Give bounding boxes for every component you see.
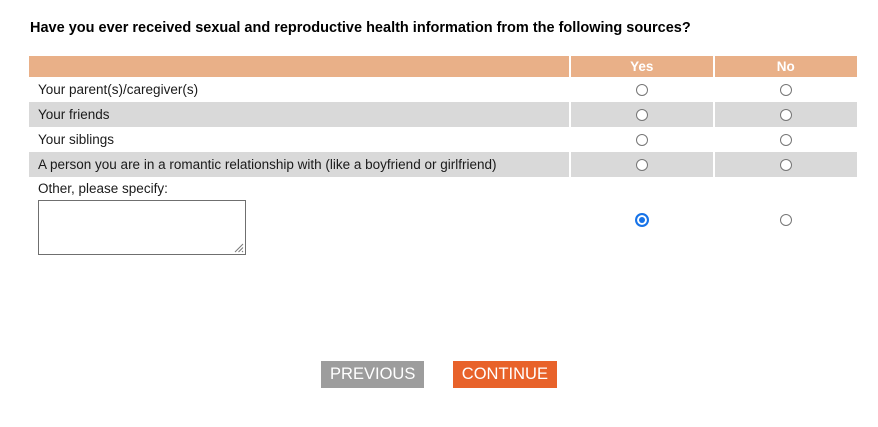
- table-row: Your siblings: [29, 127, 857, 152]
- row-label-cell: A person you are in a romantic relations…: [29, 152, 570, 177]
- radio-cell-yes[interactable]: [570, 127, 714, 152]
- table-row: Your parent(s)/caregiver(s): [29, 77, 857, 102]
- other-specify-input-holder: [38, 200, 246, 255]
- other-specify-input[interactable]: [38, 200, 246, 255]
- table-row: Your friends: [29, 102, 857, 127]
- radio-cell-yes[interactable]: [570, 77, 714, 102]
- continue-button[interactable]: CONTINUE: [453, 361, 557, 388]
- other-specify-label: Other, please specify:: [38, 180, 569, 197]
- previous-button[interactable]: PREVIOUS: [321, 361, 424, 388]
- radio-romantic-partner-no[interactable]: [780, 159, 792, 171]
- radio-cell-no[interactable]: [714, 102, 858, 127]
- radio-cell-no[interactable]: [714, 152, 858, 177]
- radio-siblings-no[interactable]: [780, 134, 792, 146]
- row-label-cell: Your siblings: [29, 127, 570, 152]
- radio-other-no[interactable]: [780, 214, 792, 226]
- radio-parents-yes[interactable]: [636, 84, 648, 96]
- radio-cell-no[interactable]: [714, 77, 858, 102]
- radio-parents-no[interactable]: [780, 84, 792, 96]
- other-label-cell: Other, please specify:: [29, 177, 570, 261]
- navigation-bar: PREVIOUS CONTINUE: [0, 361, 878, 388]
- radio-friends-yes[interactable]: [636, 109, 648, 121]
- radio-cell-yes[interactable]: [570, 177, 714, 261]
- matrix-body: Your parent(s)/caregiver(s) Your friends: [29, 77, 857, 261]
- radio-cell-no[interactable]: [714, 177, 858, 261]
- matrix-header-label-column: [29, 56, 570, 77]
- matrix-header-no: No: [714, 56, 858, 77]
- radio-siblings-yes[interactable]: [636, 134, 648, 146]
- row-label-cell: Your friends: [29, 102, 570, 127]
- matrix-header: Yes No: [29, 56, 857, 77]
- radio-romantic-partner-yes[interactable]: [636, 159, 648, 171]
- row-label-cell: Your parent(s)/caregiver(s): [29, 77, 570, 102]
- radio-cell-yes[interactable]: [570, 102, 714, 127]
- response-matrix: Yes No Your parent(s)/caregiver(s) Your …: [29, 56, 857, 261]
- survey-page: Have you ever received sexual and reprod…: [0, 0, 878, 427]
- matrix-header-row: Yes No: [29, 56, 857, 77]
- table-row-other: Other, please specify:: [29, 177, 857, 261]
- page-title: Have you ever received sexual and reprod…: [30, 19, 850, 37]
- row-label-siblings: Your siblings: [29, 127, 569, 152]
- row-label-parents: Your parent(s)/caregiver(s): [29, 77, 569, 102]
- matrix-header-yes: Yes: [570, 56, 714, 77]
- other-specify-group: Other, please specify:: [29, 177, 569, 261]
- radio-friends-no[interactable]: [780, 109, 792, 121]
- radio-cell-no[interactable]: [714, 127, 858, 152]
- radio-other-yes[interactable]: [636, 214, 648, 226]
- row-label-romantic-partner: A person you are in a romantic relations…: [29, 152, 569, 177]
- radio-cell-yes[interactable]: [570, 152, 714, 177]
- table-row: A person you are in a romantic relations…: [29, 152, 857, 177]
- row-label-friends: Your friends: [29, 102, 569, 127]
